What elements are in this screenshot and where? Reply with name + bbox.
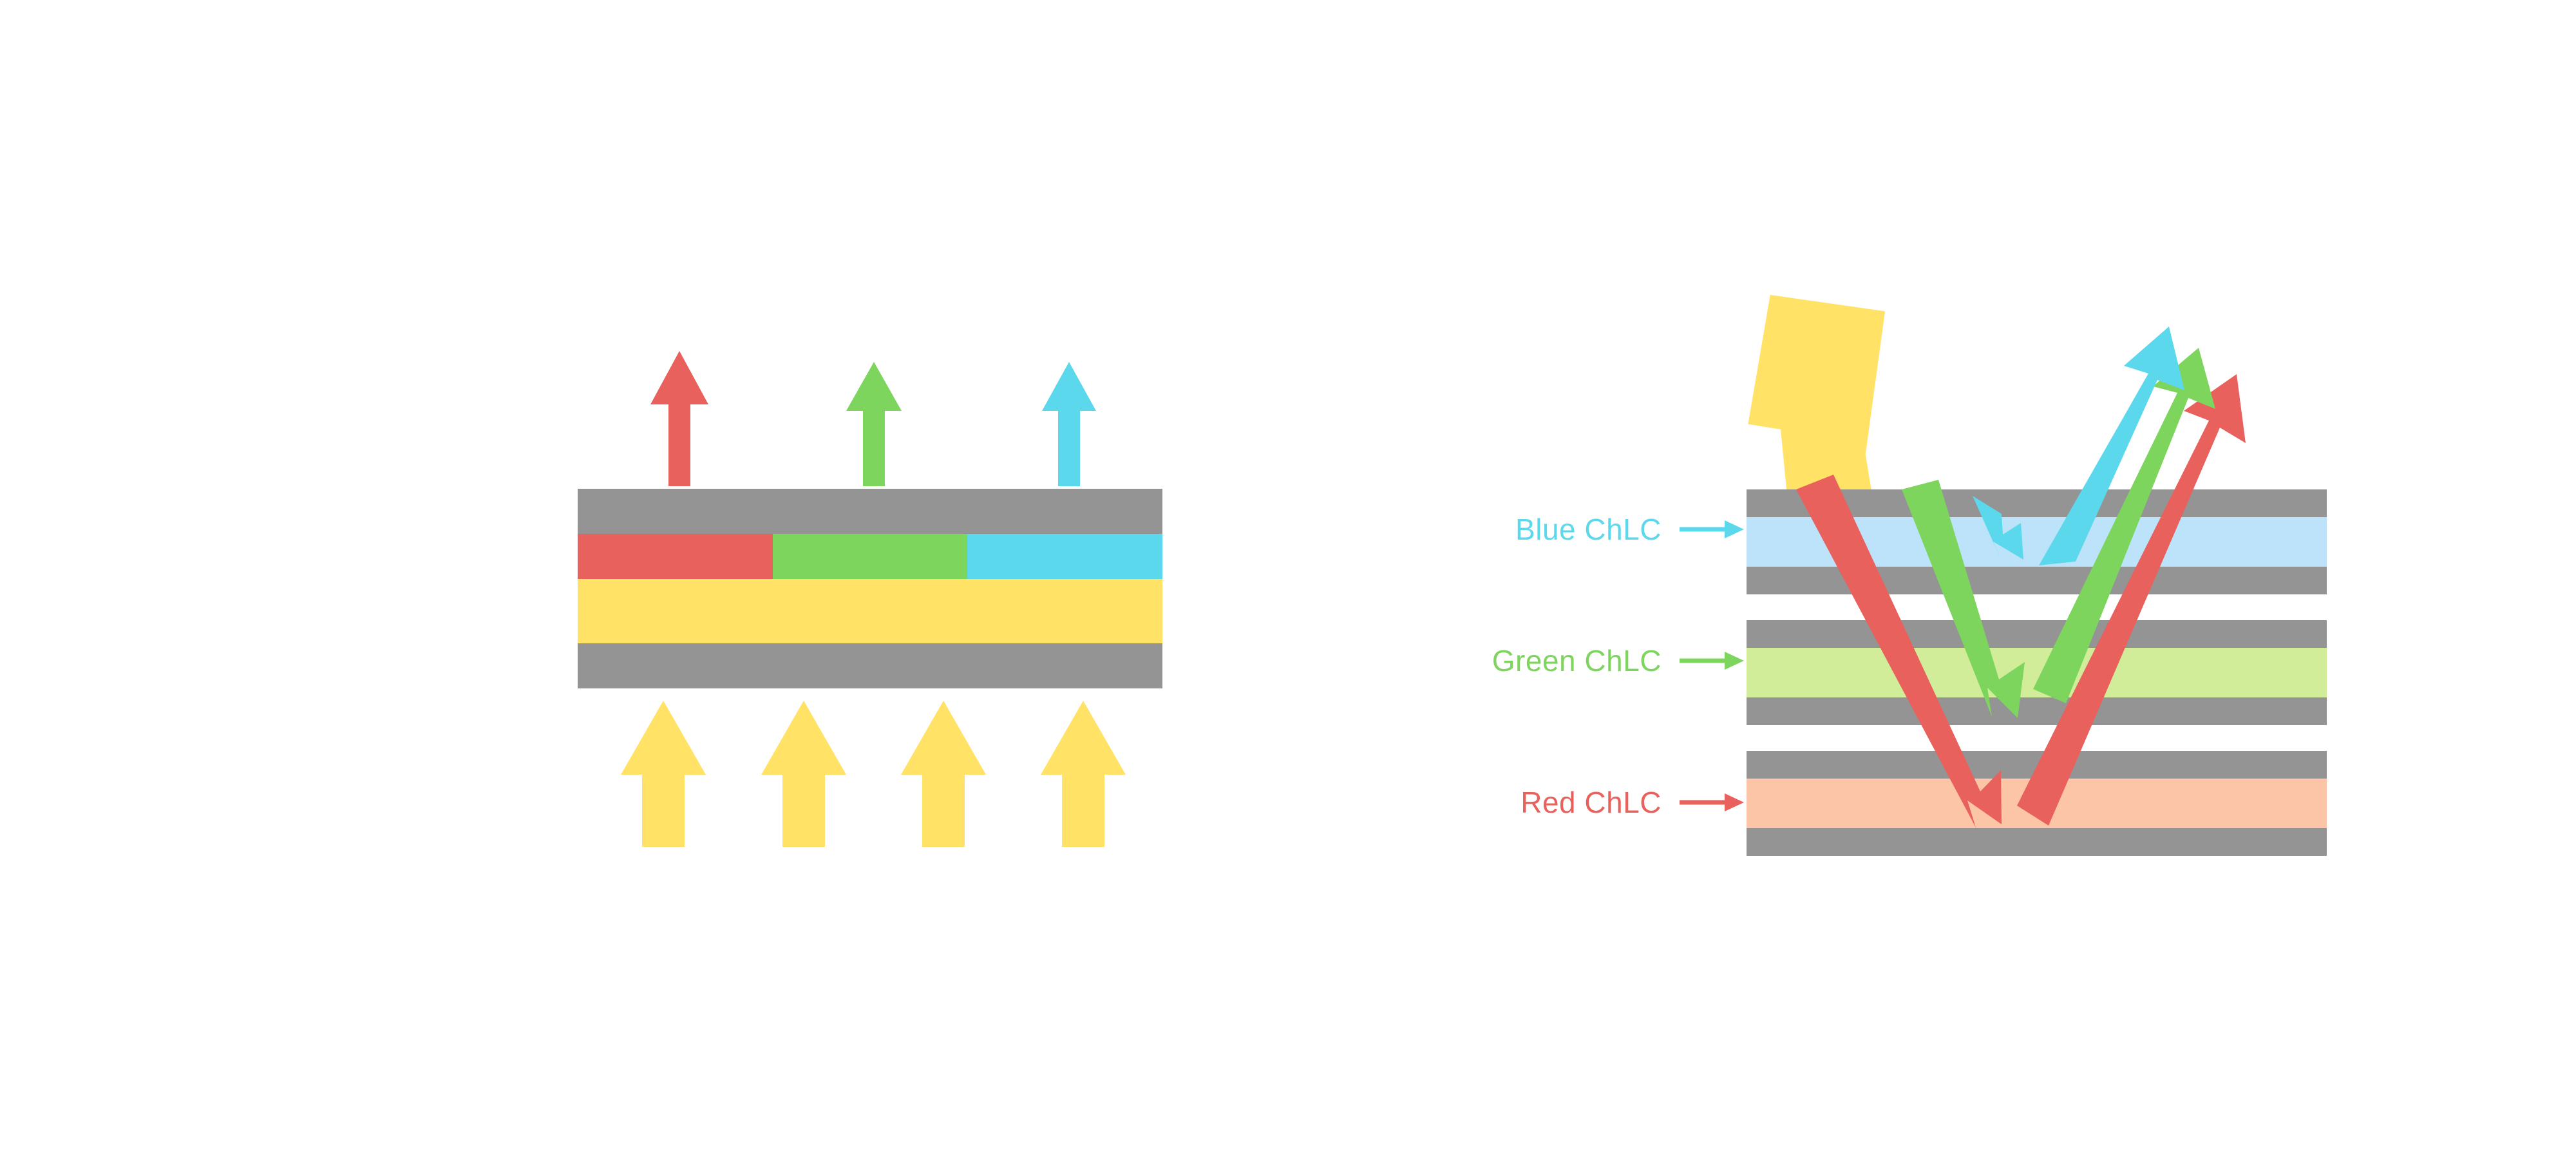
diagram-canvas: Blue ChLC Green ChLC Red ChLC — [0, 0, 2576, 1154]
left-stack — [578, 489, 1162, 688]
backlight-layer — [578, 579, 1162, 643]
red-chlc-label-text: Red ChLC — [1520, 786, 1662, 819]
green-chlc-label-text: Green ChLC — [1492, 644, 1662, 677]
green-cell-bottom-electrode — [1747, 697, 2327, 725]
bottom-electrode-layer — [578, 643, 1162, 688]
blue-cell-bottom-electrode — [1747, 567, 2327, 594]
top-electrode-layer — [578, 489, 1162, 534]
green-filter-segment — [773, 534, 967, 579]
blue-chlc-label-text: Blue ChLC — [1515, 513, 1662, 546]
cyan-filter-segment — [967, 534, 1162, 579]
chlc-diagram: Blue ChLC Green ChLC Red ChLC — [0, 0, 2576, 1154]
red-cell-bottom-electrode — [1747, 828, 2327, 856]
green-cell-top-electrode — [1747, 620, 2327, 648]
red-filter-segment — [578, 534, 773, 579]
